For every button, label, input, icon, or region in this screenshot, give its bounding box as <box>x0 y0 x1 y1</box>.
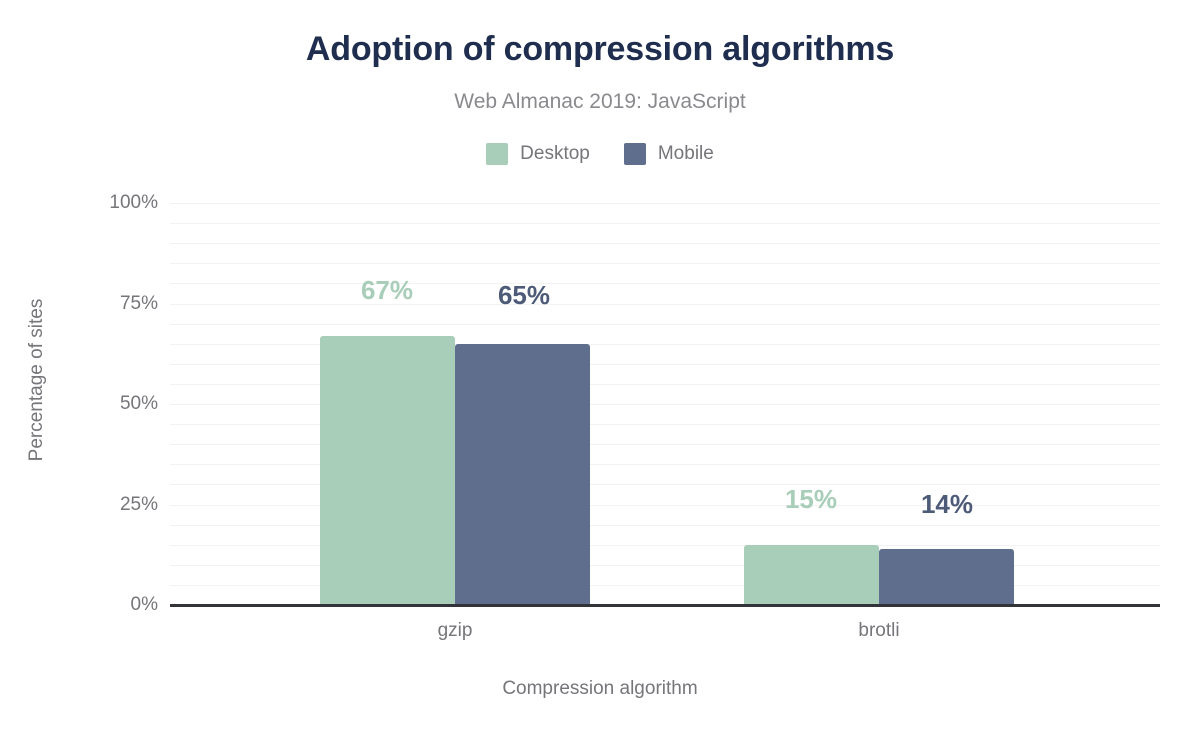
legend-label-mobile: Mobile <box>658 143 714 165</box>
gridline-95 <box>170 223 1160 224</box>
bar-brotli-desktop[interactable] <box>744 545 879 605</box>
y-tick-label-75: 75% <box>88 293 158 315</box>
chart-title: Adoption of compression algorithms <box>0 30 1200 69</box>
bar-chart: Adoption of compression algorithms Web A… <box>0 0 1200 742</box>
y-axis-title: Percentage of sites <box>26 180 48 580</box>
y-tick-label-25: 25% <box>88 494 158 516</box>
bar-gzip-mobile[interactable] <box>455 344 590 605</box>
legend-item-desktop[interactable]: Desktop <box>486 143 590 165</box>
gridline-30 <box>170 484 1160 485</box>
gridline-75 <box>170 304 1160 305</box>
plot-area <box>170 203 1160 605</box>
chart-subtitle: Web Almanac 2019: JavaScript <box>0 90 1200 114</box>
gridline-90 <box>170 243 1160 244</box>
data-label-brotli-desktop: 15% <box>785 484 837 515</box>
x-axis-title: Compression algorithm <box>0 678 1200 700</box>
gridline-85 <box>170 263 1160 264</box>
data-label-gzip-desktop: 67% <box>361 275 413 306</box>
legend-label-desktop: Desktop <box>520 143 590 165</box>
y-tick-label-100: 100% <box>88 192 158 214</box>
y-tick-label-0: 0% <box>88 594 158 616</box>
legend-swatch-desktop <box>486 143 508 165</box>
chart-legend: Desktop Mobile <box>0 143 1200 165</box>
gridline-70 <box>170 324 1160 325</box>
gridline-80 <box>170 283 1160 284</box>
x-axis-line <box>170 604 1160 607</box>
gridline-25 <box>170 505 1160 506</box>
gridline-15 <box>170 545 1160 546</box>
x-tick-label-gzip: gzip <box>438 620 473 642</box>
gridline-50 <box>170 404 1160 405</box>
gridline-40 <box>170 444 1160 445</box>
bar-brotli-mobile[interactable] <box>879 549 1014 605</box>
gridline-100 <box>170 203 1160 204</box>
gridline-20 <box>170 525 1160 526</box>
gridline-55 <box>170 384 1160 385</box>
gridline-35 <box>170 464 1160 465</box>
bar-gzip-desktop[interactable] <box>320 336 455 605</box>
x-tick-label-brotli: brotli <box>858 620 899 642</box>
gridline-60 <box>170 364 1160 365</box>
data-label-brotli-mobile: 14% <box>921 489 973 520</box>
legend-swatch-mobile <box>624 143 646 165</box>
y-tick-label-50: 50% <box>88 393 158 415</box>
legend-item-mobile[interactable]: Mobile <box>624 143 714 165</box>
gridline-45 <box>170 424 1160 425</box>
data-label-gzip-mobile: 65% <box>498 280 550 311</box>
gridline-65 <box>170 344 1160 345</box>
